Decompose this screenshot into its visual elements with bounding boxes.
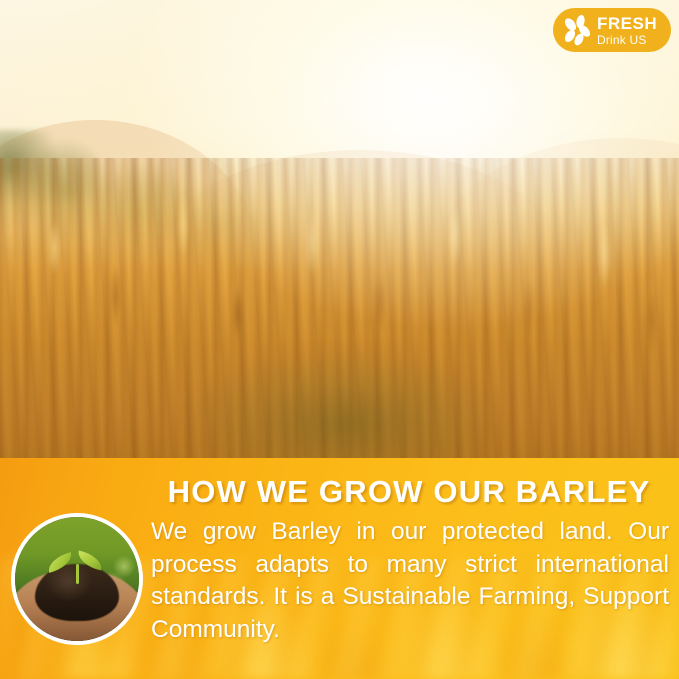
info-panel: HOW WE GROW OUR BARLEY We grow Barley in… (0, 458, 679, 679)
seedling-stem (76, 564, 79, 584)
leaf-flower-icon (559, 12, 595, 48)
panel-body-text: We grow Barley in our protected land. Ou… (151, 516, 669, 679)
brand-logo-badge: FRESH Drink US (553, 8, 671, 52)
panel-headline: HOW WE GROW OUR BARLEY (150, 476, 668, 507)
barley-field-photo (0, 0, 679, 458)
seedling-circle-photo (11, 513, 143, 645)
product-lifestyle-banner: FRESH Drink US HOW WE GROW OUR BARLEY We… (0, 0, 679, 679)
brand-name: FRESH (597, 15, 657, 32)
brand-tagline: Drink US (597, 34, 657, 46)
field-shadow (180, 318, 510, 458)
brand-logo-text: FRESH Drink US (597, 15, 657, 46)
